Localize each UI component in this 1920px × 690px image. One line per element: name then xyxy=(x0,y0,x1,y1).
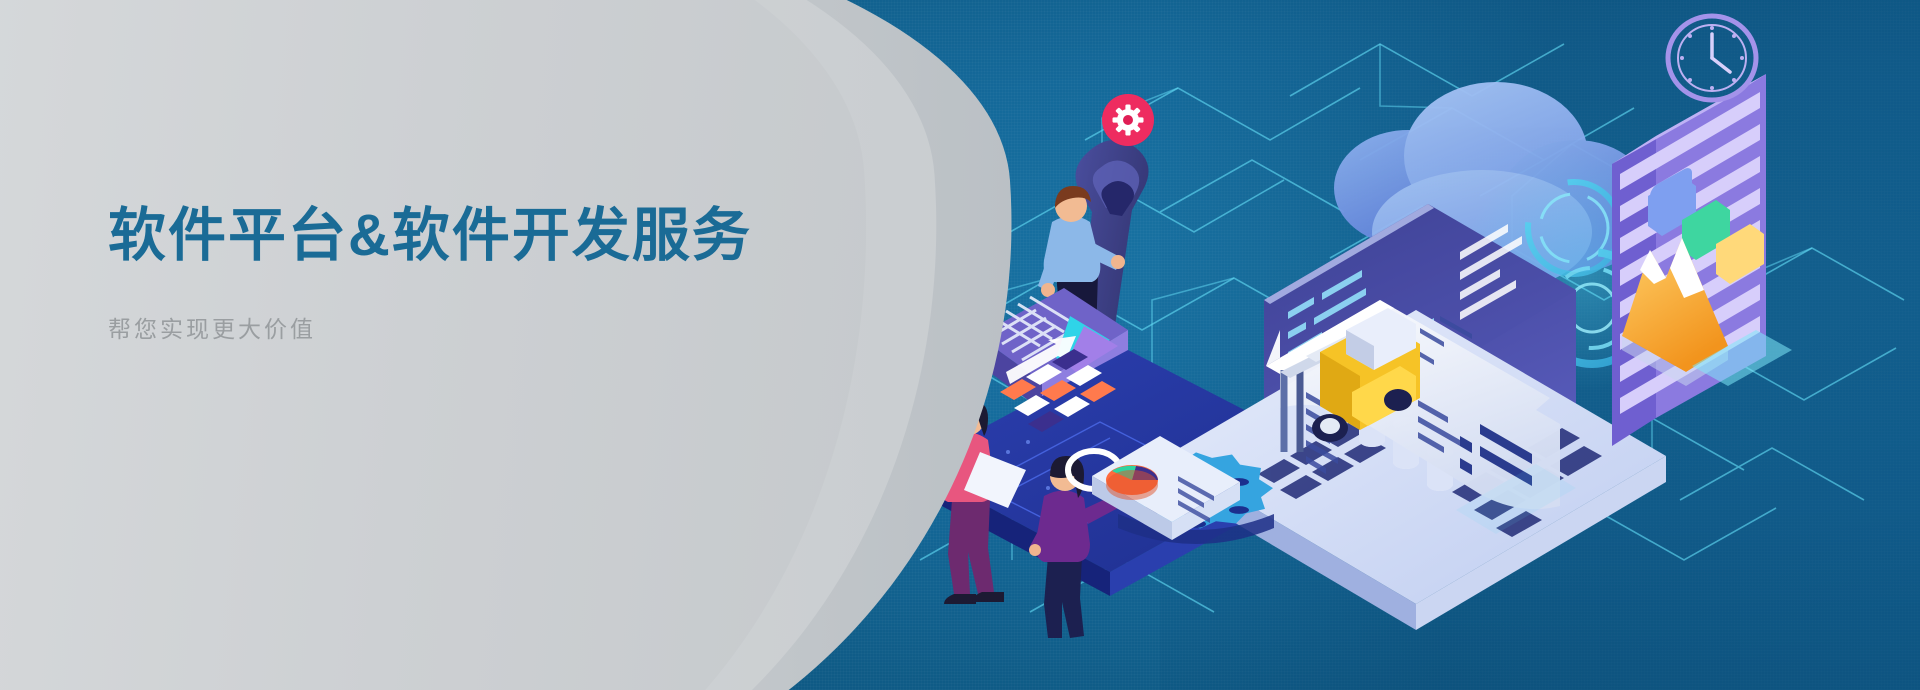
banner-subtitle: 帮您实现更大价值 xyxy=(108,310,828,344)
background-vignette xyxy=(1160,0,1920,690)
banner-title: 软件平台&软件开发服务 xyxy=(108,205,828,268)
hero-banner: 软件平台&软件开发服务 帮您实现更大价值 xyxy=(0,0,1920,690)
decorative-swoosh-front xyxy=(0,0,910,690)
banner-copy: 软件平台&软件开发服务 帮您实现更大价值 xyxy=(108,205,828,344)
